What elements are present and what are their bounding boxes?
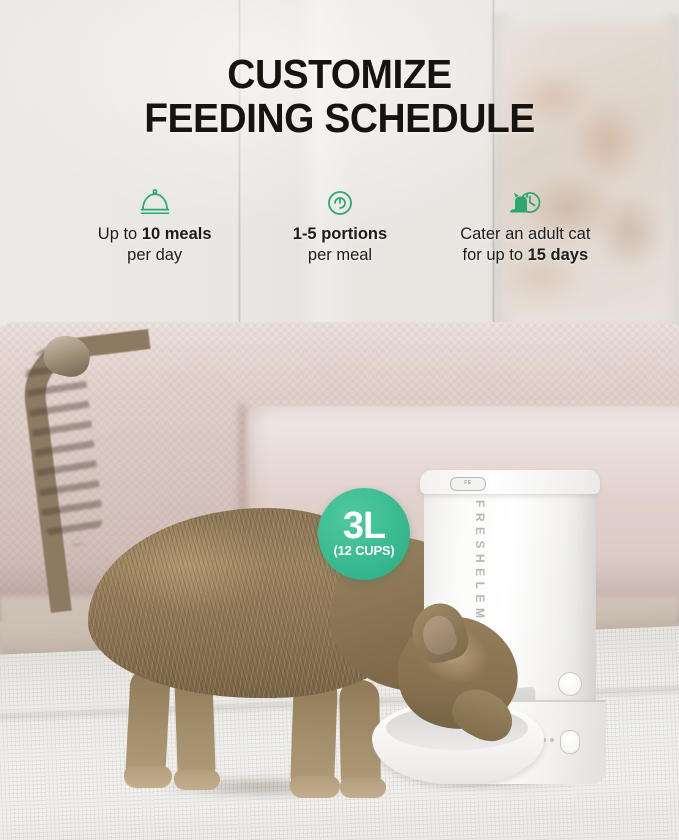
capacity-badge: 3L (12 CUPS) bbox=[318, 488, 410, 580]
feature-highlight: 1-5 portions bbox=[293, 225, 387, 243]
cat-clock-icon bbox=[433, 186, 618, 220]
feature-meals-per-day: Up to 10 meals per day bbox=[62, 186, 247, 266]
capacity-value: 3L bbox=[343, 509, 385, 543]
feature-line-2-prefix: for up to bbox=[462, 246, 527, 264]
headline-line-1: CUSTOMIZE bbox=[17, 52, 662, 96]
cat-paw-rear-left bbox=[124, 766, 172, 788]
status-led bbox=[550, 738, 554, 742]
feeder-lid bbox=[420, 470, 600, 494]
feature-prefix: Cater an adult cat bbox=[460, 225, 590, 243]
feature-text: 1-5 portions per meal bbox=[247, 224, 432, 266]
feature-text: Up to 10 meals per day bbox=[62, 224, 247, 266]
cat-paw-rear-right bbox=[174, 770, 220, 790]
feature-row: Up to 10 meals per day 1-5 portions per … bbox=[62, 186, 618, 266]
feature-prefix: Up to bbox=[98, 225, 142, 243]
portion-circle-icon bbox=[247, 186, 432, 220]
feature-line-2: per meal bbox=[247, 245, 432, 266]
product-marketing-image: FE FRESHELEMENT 3L (12 CUPS) CUSTOMIZE F… bbox=[0, 0, 679, 840]
food-dome-icon bbox=[62, 186, 247, 220]
lid-badge: FE bbox=[450, 477, 486, 491]
feature-portions-per-meal: 1-5 portions per meal bbox=[247, 186, 432, 266]
headline-line-2: FEEDING SCHEDULE bbox=[17, 96, 662, 140]
cat-paw-front-left bbox=[290, 776, 340, 798]
capacity-cups: (12 CUPS) bbox=[333, 543, 394, 559]
page-title: CUSTOMIZE FEEDING SCHEDULE bbox=[17, 52, 662, 140]
feature-line-2: for up to 15 days bbox=[433, 245, 618, 266]
feature-line-2: per day bbox=[62, 245, 247, 266]
lid-badge-label: FE bbox=[451, 478, 485, 488]
feature-text: Cater an adult cat for up to 15 days bbox=[433, 224, 618, 266]
feature-highlight: 15 days bbox=[528, 246, 589, 264]
feature-days-of-food: Cater an adult cat for up to 15 days bbox=[433, 186, 618, 266]
feature-highlight: 10 meals bbox=[142, 225, 212, 243]
power-button[interactable] bbox=[558, 672, 582, 696]
feed-button[interactable] bbox=[560, 730, 580, 754]
